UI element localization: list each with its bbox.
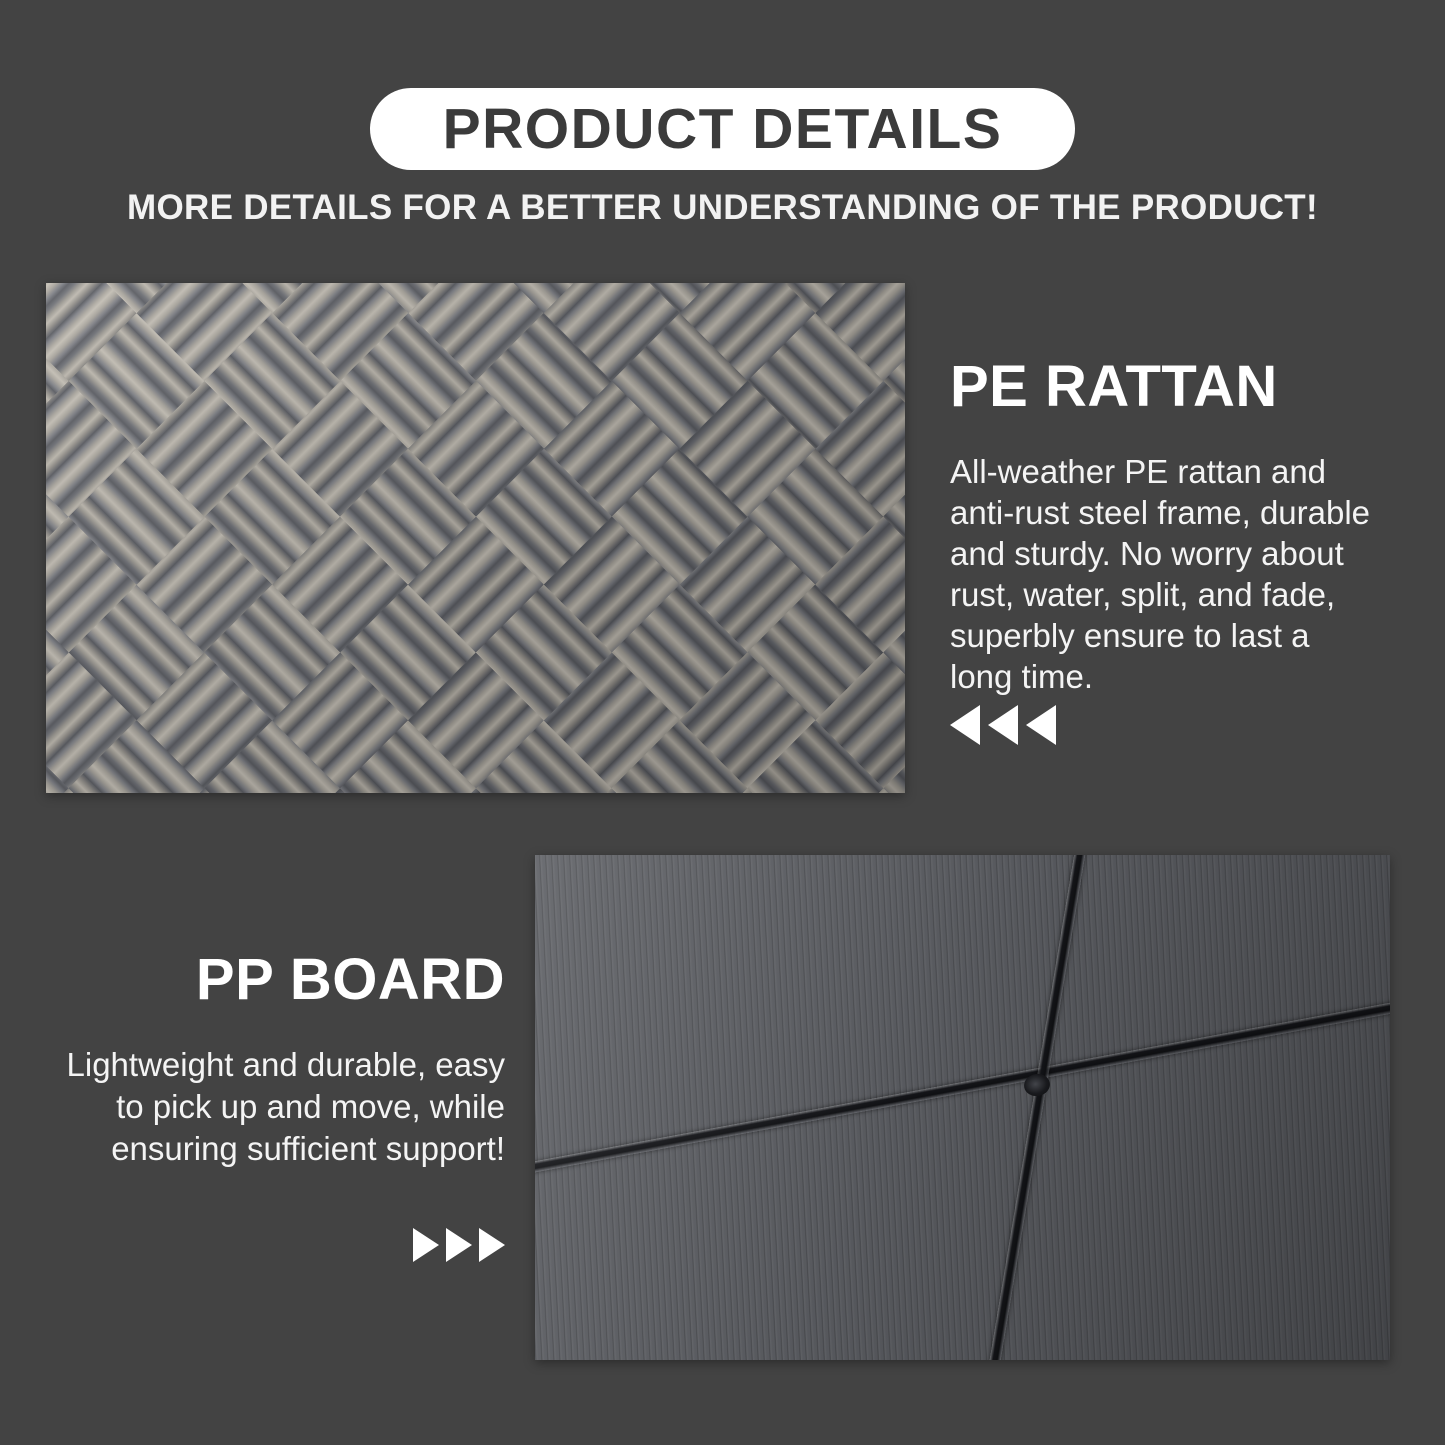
page-title-badge: PRODUCT DETAILS <box>370 88 1075 170</box>
pe-rattan-arrow-group <box>950 705 1056 745</box>
triangle-left-icon <box>1026 705 1056 745</box>
pp-board-arrow-group <box>413 1228 505 1262</box>
page-subtitle: MORE DETAILS FOR A BETTER UNDERSTANDING … <box>0 188 1445 228</box>
pp-board-text-block: PP BOARD Lightweight and durable, easy t… <box>60 950 505 1203</box>
product-details-infographic: PRODUCT DETAILS MORE DETAILS FOR A BETTE… <box>0 0 1445 1445</box>
pp-board-body: Lightweight and durable, easy to pick up… <box>60 1044 505 1170</box>
rattan-weave-weft <box>46 283 905 793</box>
page-title: PRODUCT DETAILS <box>443 101 1003 158</box>
pp-board-heading: PP BOARD <box>60 950 505 1011</box>
triangle-right-icon <box>413 1228 439 1262</box>
pe-rattan-heading: PE RATTAN <box>950 357 1380 418</box>
pp-board-shading-overlay <box>535 855 1390 1360</box>
pe-rattan-body: All-weather PE rattan and anti-rust stee… <box>950 451 1380 697</box>
pe-rattan-text-block: PE RATTAN All-weather PE rattan and anti… <box>950 357 1380 730</box>
triangle-left-icon <box>950 705 980 745</box>
pp-board-image <box>535 855 1390 1360</box>
triangle-right-icon <box>446 1228 472 1262</box>
triangle-right-icon <box>479 1228 505 1262</box>
pe-rattan-image <box>46 283 905 793</box>
triangle-left-icon <box>988 705 1018 745</box>
